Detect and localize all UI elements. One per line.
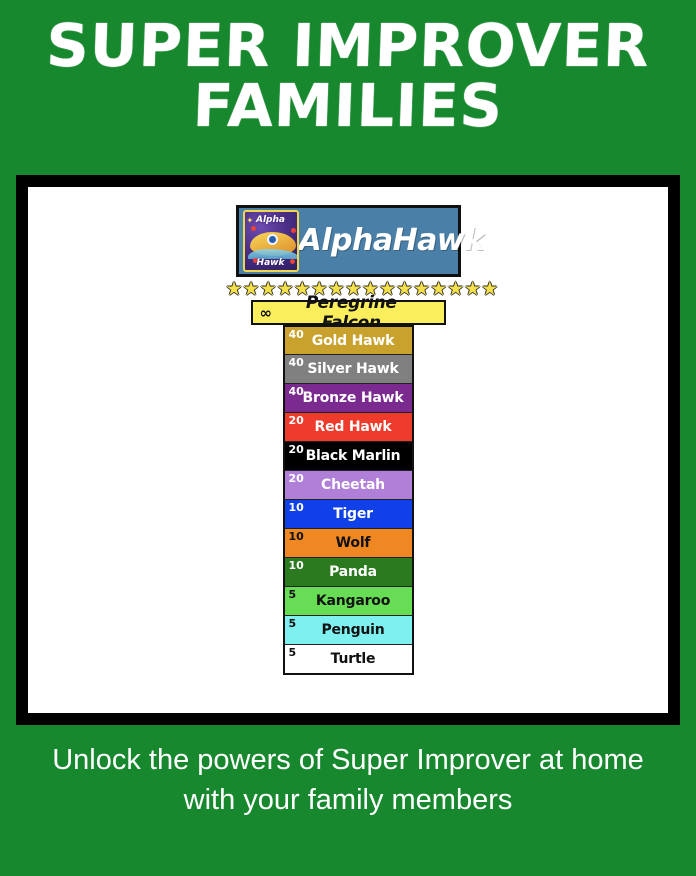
level-points: 20 [289, 415, 304, 426]
chart-frame: ✦ ✦ Alpha Hawk AlphaHawk ★★★★★★★★★ [16, 175, 680, 725]
star-icon: ★ [481, 280, 498, 299]
level-row: 10Wolf [285, 528, 412, 557]
level-points: 40 [289, 329, 304, 340]
level-row: 40Gold Hawk [285, 325, 412, 354]
title-line-1: SUPER IMPROVER [7, 16, 689, 76]
star-icon: ★ [260, 280, 277, 299]
level-row: 40Silver Hawk [285, 354, 412, 383]
title-line-2: FAMILIES [7, 76, 689, 136]
level-points: 10 [289, 560, 304, 571]
level-row: 20Black Marlin [285, 441, 412, 470]
poster-title: SUPER IMPROVER FAMILIES [0, 0, 696, 142]
super-improver-families-poster: SUPER IMPROVER FAMILIES ✦ ✦ Alpha [0, 0, 696, 876]
card-top-label: Alpha [245, 215, 297, 225]
card-bottom-label: Hawk [245, 258, 297, 268]
level-row: 5Kangaroo [285, 586, 412, 615]
level-points: 5 [289, 589, 297, 600]
level-ladder: 40Gold Hawk40Silver Hawk40Bronze Hawk20R… [283, 325, 414, 675]
star-icon: ★ [243, 280, 260, 299]
hawk-eye-icon [269, 236, 276, 243]
level-points: 10 [289, 502, 304, 513]
super-improver-chart: ✦ ✦ Alpha Hawk AlphaHawk ★★★★★★★★★ [198, 205, 498, 675]
level-points: 20 [289, 473, 304, 484]
alphahawk-card-icon: ✦ ✦ Alpha Hawk [243, 210, 299, 272]
level-points: 40 [289, 386, 304, 397]
star-icon: ★ [447, 280, 464, 299]
level-name: Kangaroo [285, 593, 412, 609]
level-row: 5Penguin [285, 615, 412, 644]
level-row: 20Cheetah [285, 470, 412, 499]
star-icon: ★ [226, 280, 243, 299]
poster-caption: Unlock the powers of Super Improver at h… [0, 740, 696, 820]
level-points: 40 [289, 357, 304, 368]
level-name: Turtle [285, 651, 412, 667]
level-name: Penguin [285, 622, 412, 638]
banner-title: AlphaHawk [299, 226, 488, 256]
level-points: 20 [289, 444, 304, 455]
level-row: 5Turtle [285, 644, 412, 673]
level-row: 10Tiger [285, 499, 412, 528]
rank-peregrine-falcon: ∞ Peregrine Falcon [251, 300, 446, 325]
level-row: 20Red Hawk [285, 412, 412, 441]
level-points: 5 [289, 618, 297, 629]
infinity-icon: ∞ [260, 304, 273, 322]
level-points: 10 [289, 531, 304, 542]
card-dot [251, 226, 256, 231]
alphahawk-banner: ✦ ✦ Alpha Hawk AlphaHawk [236, 205, 461, 277]
card-dot [291, 228, 296, 233]
level-row: 10Panda [285, 557, 412, 586]
chart-frame-inner: ✦ ✦ Alpha Hawk AlphaHawk ★★★★★★★★★ [28, 187, 668, 713]
level-row: 40Bronze Hawk [285, 383, 412, 412]
star-icon: ★ [464, 280, 481, 299]
level-points: 5 [289, 647, 297, 658]
